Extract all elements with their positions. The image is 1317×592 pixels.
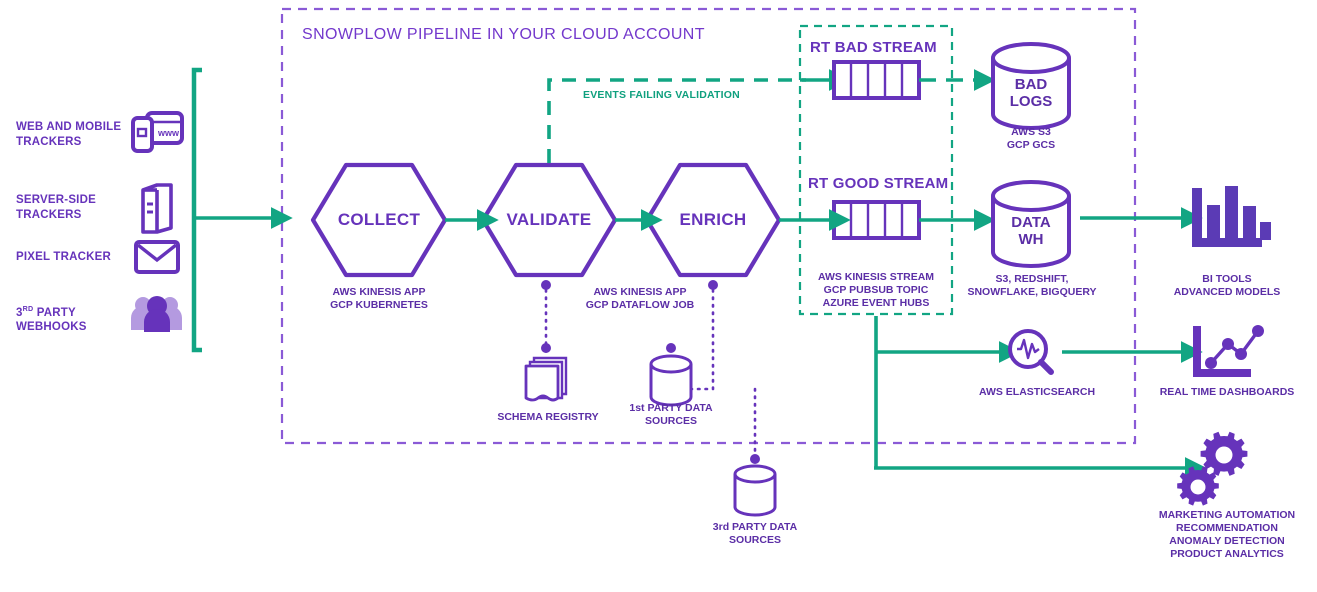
label-line2: RECOMMENDATION — [1176, 522, 1278, 534]
label-line1: MARKETING AUTOMATION — [1159, 509, 1295, 521]
label-line2: SOURCES — [645, 415, 697, 427]
line-chart-icon — [1193, 325, 1264, 377]
source-label-web-mobile: WEB AND MOBILE TRACKERS — [16, 120, 126, 149]
schema-registry-label: SCHEMA REGISTRY — [478, 411, 618, 424]
stage-caption-collect: AWS KINESIS APP GCP KUBERNETES — [310, 286, 448, 312]
label-line2: WH — [1019, 231, 1044, 248]
source-label-line2: WEBHOOKS — [16, 321, 87, 333]
output-label-marketing: MARKETING AUTOMATION RECOMMENDATION ANOM… — [1142, 509, 1312, 561]
svg-text:www: www — [157, 128, 180, 138]
label-line3: ANOMALY DETECTION — [1169, 535, 1285, 547]
first-party-db-icon — [651, 356, 691, 405]
stage-caption-validate: AWS KINESIS APP GCP DATAFLOW JOB — [560, 286, 720, 312]
source-label-line1: SERVER-SIDE — [16, 194, 96, 206]
data-wh-label: DATA WH — [991, 214, 1071, 248]
label-line2: SOURCES — [729, 534, 781, 546]
first-party-label: 1st PARTY DATA SOURCES — [611, 402, 731, 428]
caption-line1: AWS S3 — [1011, 126, 1051, 138]
source-label-server-side: SERVER-SIDE TRACKERS — [16, 193, 126, 222]
caption-line2: GCP KUBERNETES — [330, 299, 428, 311]
elasticsearch-label: AWS ELASTICSEARCH — [962, 386, 1112, 399]
caption-line1: S3, REDSHIFT, — [996, 273, 1069, 285]
output-label-dashboards: REAL TIME DASHBOARDS — [1142, 386, 1312, 399]
label-line1: 1st PARTY DATA — [629, 402, 712, 414]
caption-line3: AZURE EVENT HUBS — [823, 297, 930, 309]
people-icon — [131, 296, 182, 332]
bad-logs-label: BAD LOGS — [991, 76, 1071, 110]
source-label-sup: RD — [23, 305, 34, 313]
caption-line1: AWS KINESIS STREAM — [818, 271, 934, 283]
caption-line1: AWS KINESIS APP — [333, 286, 426, 298]
failing-validation-label: EVENTS FAILING VALIDATION — [583, 89, 740, 101]
label-line2: LOGS — [1010, 93, 1053, 110]
caption-line2: GCP PUBSUB TOPIC — [824, 284, 929, 296]
rt-bad-stream-box — [834, 62, 919, 98]
stage-label-collect: COLLECT — [313, 210, 445, 230]
envelope-icon — [136, 242, 178, 272]
source-label-line1: WEB AND MOBILE — [16, 121, 121, 133]
caption-line2: GCP GCS — [1007, 139, 1055, 151]
source-label-prefix: 3 — [16, 307, 23, 319]
sources-bracket — [194, 70, 202, 350]
pipeline-panel-title: SNOWPLOW PIPELINE IN YOUR CLOUD ACCOUNT — [302, 26, 705, 44]
stage-label-validate: VALIDATE — [483, 210, 615, 230]
caption-line2: SNOWFLAKE, BIGQUERY — [967, 286, 1096, 298]
bad-logs-caption: AWS S3 GCP GCS — [971, 126, 1091, 152]
source-label-line2: TRACKERS — [16, 209, 82, 221]
output-label-bi-tools: BI TOOLS ADVANCED MODELS — [1152, 273, 1302, 299]
stream-caption: AWS KINESIS STREAM GCP PUBSUB TOPIC AZUR… — [798, 271, 954, 310]
label-line2: ADVANCED MODELS — [1174, 286, 1281, 298]
caption-line1: AWS KINESIS APP — [594, 286, 687, 298]
schema-registry-dot-top — [541, 280, 551, 290]
first-party-dot — [666, 343, 676, 353]
magnifier-pulse-icon — [1010, 331, 1051, 372]
caption-line2: GCP DATAFLOW JOB — [586, 299, 695, 311]
source-label-line2: TRACKERS — [16, 136, 82, 148]
source-label-pixel-tracker: PIXEL TRACKER — [16, 250, 136, 265]
third-party-db-icon — [735, 466, 775, 515]
mobile-browser-icon: www — [133, 113, 182, 151]
rt-good-stream-box — [834, 202, 919, 238]
label-line1: 3rd PARTY DATA — [713, 521, 797, 533]
rt-good-stream-title: RT GOOD STREAM — [808, 175, 948, 192]
diagram-canvas: www — [0, 0, 1317, 592]
server-icon — [143, 185, 171, 232]
label-line1: BAD — [1015, 76, 1048, 93]
stage-label-enrich: ENRICH — [647, 210, 779, 230]
gears-icon — [1177, 432, 1247, 506]
source-label-line1: PIXEL TRACKER — [16, 251, 111, 263]
schema-registry-dot-bottom — [541, 343, 551, 353]
rt-bad-stream-title: RT BAD STREAM — [810, 39, 937, 56]
bar-chart-icon — [1192, 186, 1271, 247]
label-line1: DATA — [1011, 214, 1050, 231]
third-party-label: 3rd PARTY DATA SOURCES — [695, 521, 815, 547]
documents-stack-icon — [526, 358, 566, 400]
label-line1: BI TOOLS — [1202, 273, 1251, 285]
third-party-dot — [750, 454, 760, 464]
label-line4: PRODUCT ANALYTICS — [1170, 548, 1284, 560]
label-line1: REAL TIME DASHBOARDS — [1160, 386, 1295, 398]
source-label-webhooks: 3RD PARTY WEBHOOKS — [16, 302, 126, 335]
data-wh-caption: S3, REDSHIFT, SNOWFLAKE, BIGQUERY — [956, 273, 1108, 299]
